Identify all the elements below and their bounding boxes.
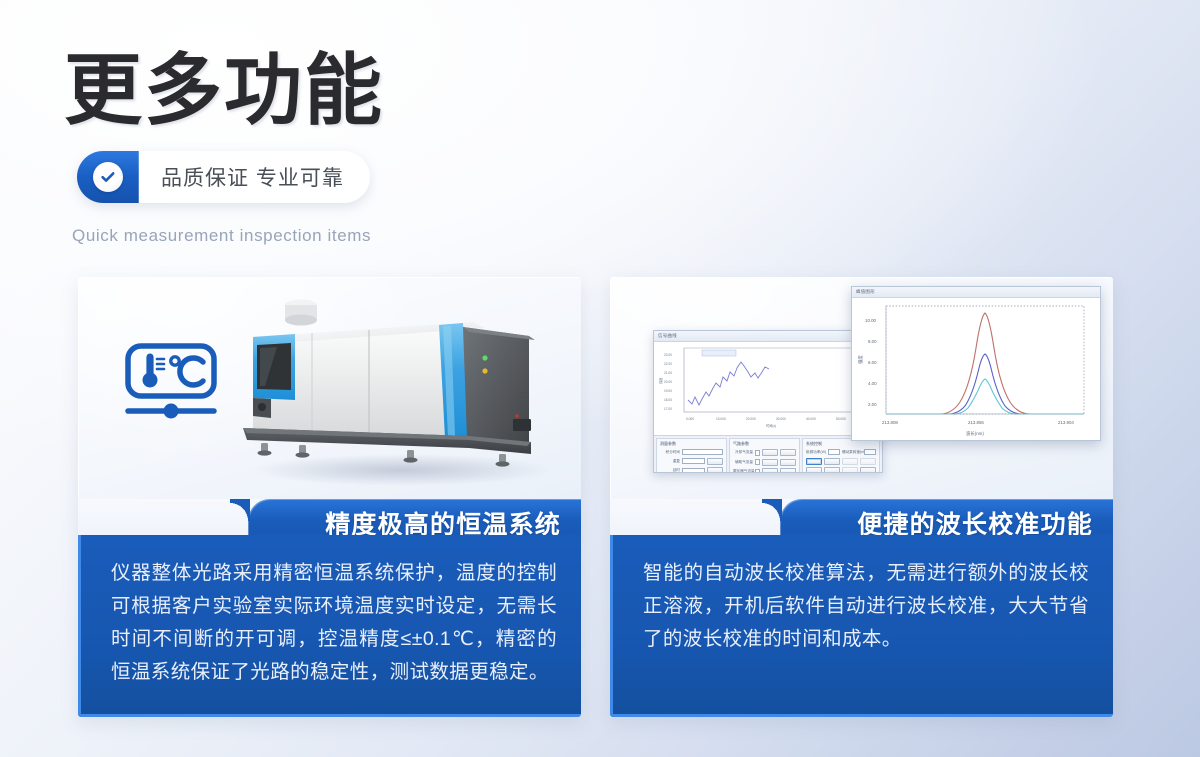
aux-button[interactable]	[780, 459, 796, 466]
form-row[interactable]: 射频功率(W) 蠕动泵转速(r/m)	[806, 449, 876, 455]
field-input[interactable]	[682, 468, 705, 474]
svg-text:23.00: 23.00	[664, 353, 672, 357]
reset-button[interactable]	[824, 467, 840, 473]
icp-spectrometer-instrument	[217, 288, 577, 493]
panel-system-control[interactable]: 系统控制 射频功率(W) 蠕动泵转速(r/m)	[802, 438, 880, 473]
page-subtitle: Quick measurement inspection items	[72, 226, 371, 246]
feature-card-thermostat[interactable]: 精度极高的恒温系统 仪器整体光路采用精密恒温系统保护，温度的控制可根据客户实验室…	[78, 277, 581, 717]
signal-trace-chart: 23.0022.00 21.0020.00 19.0018.00 17.00 0…	[654, 342, 882, 430]
field-input[interactable]	[682, 458, 705, 464]
field-label: 蠕动泵转速(r/m)	[842, 450, 862, 455]
svg-text:波长(nm): 波长(nm)	[966, 430, 984, 437]
form-row[interactable]: 雾化器气流量	[733, 468, 796, 473]
card-description: 仪器整体光路采用精密恒温系统保护，温度的控制可根据客户实验室实际环境温度实时设定…	[111, 557, 557, 689]
field-label: 积分时间	[660, 450, 680, 455]
quality-badge: 品质保证 专业可靠	[77, 151, 370, 203]
button-row[interactable]	[806, 467, 876, 473]
software-window-signal-curve[interactable]: 信号曲线 23.0022.00 21.0020.00 19.0018.00 17…	[653, 330, 883, 473]
panel-heading: 系统控制	[806, 441, 876, 447]
svg-text:10.000: 10.000	[716, 417, 726, 421]
set-button[interactable]	[762, 459, 778, 466]
panel-measure-params[interactable]: 测量参数 积分时间 重复 延时	[656, 438, 727, 473]
svg-text:0.000: 0.000	[686, 417, 694, 421]
svg-text:8.00: 8.00	[868, 339, 877, 344]
svg-text:6.00: 6.00	[868, 360, 877, 365]
aux-button[interactable]	[780, 449, 796, 456]
ignite-button[interactable]	[806, 458, 822, 465]
field-label: 重复	[660, 459, 680, 464]
aux-button[interactable]	[780, 468, 796, 473]
window-title: 峰值图形	[852, 287, 1100, 298]
field-input[interactable]	[864, 449, 876, 455]
stop-button[interactable]	[860, 458, 876, 465]
quality-badge-text: 品质保证 专业可靠	[139, 151, 344, 203]
button-row[interactable]	[806, 458, 876, 465]
panel-heading: 测量参数	[660, 441, 723, 447]
svg-text:22.00: 22.00	[664, 362, 672, 366]
field-label: 辅助气流量	[733, 460, 753, 465]
svg-text:20.000: 20.000	[746, 417, 756, 421]
field-label: 射频功率(W)	[806, 450, 826, 455]
svg-text:21.00: 21.00	[664, 371, 672, 375]
svg-text:4.00: 4.00	[868, 381, 877, 386]
set-button[interactable]	[762, 468, 778, 473]
form-row[interactable]: 冷却气流量	[733, 449, 796, 456]
svg-text:18.00: 18.00	[664, 398, 672, 402]
set-button[interactable]	[762, 449, 778, 456]
field-label: 延时	[660, 468, 680, 473]
field-input[interactable]	[682, 449, 723, 455]
field-label: 雾化器气流量	[733, 469, 753, 473]
field-input[interactable]	[755, 459, 760, 465]
field-label: 冷却气流量	[733, 450, 753, 455]
page-title: 更多功能	[64, 52, 384, 130]
svg-text:213.904: 213.904	[1058, 420, 1074, 425]
window-title: 信号曲线	[654, 331, 882, 342]
svg-text:40.000: 40.000	[806, 417, 816, 421]
card-description: 智能的自动波长校准算法，无需进行额外的波长校正溶液，开机后软件自动进行波长校准，…	[643, 557, 1089, 656]
card-body: 智能的自动波长校准算法，无需进行额外的波长校正溶液，开机后软件自动进行波长校准，…	[610, 535, 1113, 717]
card-illustration-area	[78, 277, 581, 499]
svg-text:时间(s): 时间(s)	[766, 423, 776, 428]
control-panels[interactable]: 测量参数 积分时间 重复 延时	[654, 435, 882, 473]
panel-gas-params[interactable]: 气路参数 冷却气流量 辅助气流量	[729, 438, 800, 473]
form-row[interactable]: 延时	[660, 467, 723, 473]
svg-text:213.856: 213.856	[968, 420, 984, 425]
form-row[interactable]: 重复	[660, 458, 723, 465]
field-input[interactable]	[755, 469, 760, 474]
svg-text:30.000: 30.000	[776, 417, 786, 421]
svg-text:17.00: 17.00	[664, 407, 672, 411]
svg-text:213.808: 213.808	[882, 420, 898, 425]
wavelength-peaks-chart: 10.00 8.00 6.00 4.00 2.00 213.808 213.85…	[852, 298, 1100, 440]
sample-button[interactable]	[842, 458, 858, 465]
svg-text:2.00: 2.00	[868, 402, 877, 407]
svg-text:10.00: 10.00	[865, 318, 877, 323]
svg-text:强度: 强度	[658, 377, 663, 384]
svg-text:20.00: 20.00	[664, 380, 672, 384]
set-button[interactable]	[707, 458, 723, 465]
selftest-button[interactable]	[806, 467, 822, 473]
svg-text:强度: 强度	[857, 355, 864, 364]
card-body: 仪器整体光路采用精密恒温系统保护，温度的控制可根据客户实验室实际环境温度实时设定…	[78, 535, 581, 717]
svg-text:19.00: 19.00	[664, 389, 672, 393]
svg-text:50.000: 50.000	[836, 417, 846, 421]
exit-button[interactable]	[860, 467, 876, 473]
form-row[interactable]: 积分时间	[660, 449, 723, 455]
product-feature-page: 更多功能 品质保证 专业可靠 Quick measurement inspect…	[0, 0, 1200, 757]
field-input[interactable]	[755, 450, 760, 456]
panel-heading: 气路参数	[733, 441, 796, 447]
extinguish-button[interactable]	[824, 458, 840, 465]
save-button[interactable]	[842, 467, 858, 473]
badge-icon-cap	[77, 151, 139, 203]
software-window-peak-chart[interactable]: 峰值图形 10.00 8.00 6.00 4.00 2.00 213.808 2…	[851, 286, 1101, 441]
form-row[interactable]: 辅助气流量	[733, 459, 796, 466]
set-button[interactable]	[707, 467, 723, 473]
thermometer-celsius-icon	[123, 343, 219, 421]
field-input[interactable]	[828, 449, 840, 455]
feature-card-wavelength-calibration[interactable]: 信号曲线 23.0022.00 21.0020.00 19.0018.00 17…	[610, 277, 1113, 717]
check-circle-icon	[93, 162, 123, 192]
card-illustration-area: 信号曲线 23.0022.00 21.0020.00 19.0018.00 17…	[610, 277, 1113, 499]
